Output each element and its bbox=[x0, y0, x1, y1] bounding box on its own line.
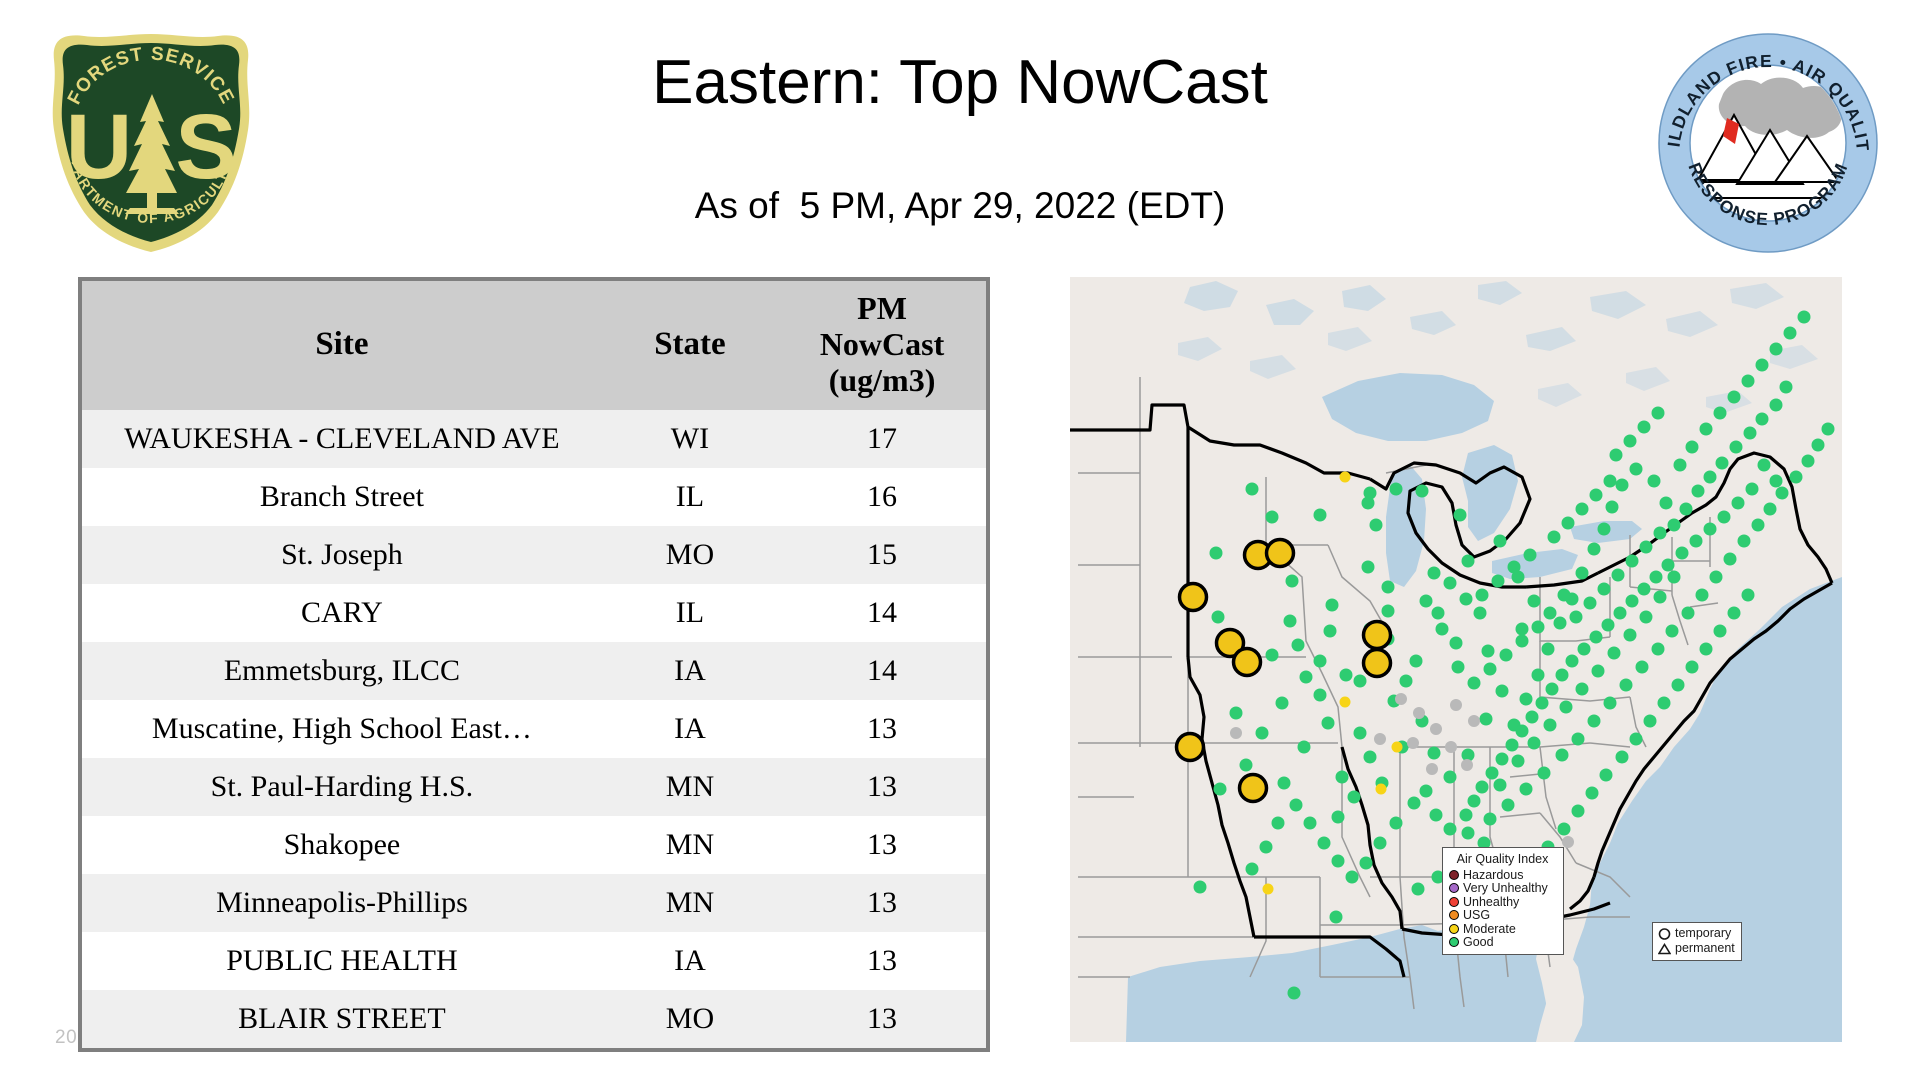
cell-pm-nowcast: 16 bbox=[778, 468, 986, 526]
wfaqrp-logo: WILDLAND FIRE • AIR QUALITY RESPONSE PRO… bbox=[1657, 32, 1879, 254]
column-header-state[interactable]: State bbox=[602, 281, 778, 410]
page-subtitle: As of 5 PM, Apr 29, 2022 (EDT) bbox=[300, 185, 1620, 227]
cell-site: BLAIR STREET bbox=[82, 990, 602, 1048]
site-type-label-temporary: temporary bbox=[1675, 927, 1731, 940]
cell-pm-nowcast: 14 bbox=[778, 584, 986, 642]
column-header-line-units: (ug/m3) bbox=[782, 363, 982, 399]
us-forest-service-logo: FOREST SERVICE DEPARTMENT OF AGRICULTURE… bbox=[46, 26, 256, 256]
cell-state: MO bbox=[602, 990, 778, 1048]
aqi-legend-swatch-icon bbox=[1449, 883, 1459, 893]
table-row[interactable]: BLAIR STREETMO13 bbox=[82, 990, 986, 1048]
table-row[interactable]: Branch StreetIL16 bbox=[82, 468, 986, 526]
table-header-row: Site State PM NowCast (ug/m3) bbox=[82, 281, 986, 410]
shield-letter-u: U bbox=[66, 96, 132, 198]
cell-state: MN bbox=[602, 874, 778, 932]
cell-pm-nowcast: 17 bbox=[778, 410, 986, 468]
table-body: WAUKESHA - CLEVELAND AVEWI17Branch Stree… bbox=[82, 410, 986, 1048]
cell-site: WAUKESHA - CLEVELAND AVE bbox=[82, 410, 602, 468]
cell-site: CARY bbox=[82, 584, 602, 642]
cell-site: PUBLIC HEALTH bbox=[82, 932, 602, 990]
cell-state: IA bbox=[602, 642, 778, 700]
circle-outline-icon bbox=[1658, 927, 1671, 941]
table-row[interactable]: CARYIL14 bbox=[82, 584, 986, 642]
aqi-legend-row: Unhealthy bbox=[1449, 895, 1556, 909]
cell-pm-nowcast: 13 bbox=[778, 700, 986, 758]
cell-state: IA bbox=[602, 700, 778, 758]
cell-state: MN bbox=[602, 758, 778, 816]
aqi-legend-row: Hazardous bbox=[1449, 868, 1556, 882]
column-header-line-pm: PM bbox=[782, 291, 982, 327]
aqi-legend-swatch-icon bbox=[1449, 924, 1459, 934]
aqi-legend-row: Very Unhealthy bbox=[1449, 882, 1556, 896]
cell-pm-nowcast: 15 bbox=[778, 526, 986, 584]
aqi-legend-label: USG bbox=[1463, 909, 1490, 922]
cell-pm-nowcast: 14 bbox=[778, 642, 986, 700]
triangle-outline-icon bbox=[1658, 942, 1671, 956]
table-header: Site State PM NowCast (ug/m3) bbox=[82, 281, 986, 410]
cell-state: MO bbox=[602, 526, 778, 584]
nowcast-table-container: Site State PM NowCast (ug/m3) WAUKESHA -… bbox=[78, 277, 990, 1052]
table-row[interactable]: St. Paul-Harding H.S.MN13 bbox=[82, 758, 986, 816]
cell-site: Branch Street bbox=[82, 468, 602, 526]
table-row[interactable]: ShakopeeMN13 bbox=[82, 816, 986, 874]
nowcast-table: Site State PM NowCast (ug/m3) WAUKESHA -… bbox=[82, 281, 986, 1048]
aqi-legend-row: Good bbox=[1449, 936, 1556, 950]
cell-state: IL bbox=[602, 468, 778, 526]
aqi-legend-rows: HazardousVery UnhealthyUnhealthyUSGModer… bbox=[1449, 868, 1556, 949]
cell-pm-nowcast: 13 bbox=[778, 932, 986, 990]
table-row[interactable]: WAUKESHA - CLEVELAND AVEWI17 bbox=[82, 410, 986, 468]
aqi-legend-swatch-icon bbox=[1449, 897, 1459, 907]
aqi-legend-swatch-icon bbox=[1449, 937, 1459, 947]
aqi-legend-row: Moderate bbox=[1449, 922, 1556, 936]
cell-state: IA bbox=[602, 932, 778, 990]
cell-pm-nowcast: 13 bbox=[778, 874, 986, 932]
site-type-legend: temporary permanent bbox=[1652, 922, 1742, 961]
column-header-site[interactable]: Site bbox=[82, 281, 602, 410]
aqi-legend-label: Very Unhealthy bbox=[1463, 882, 1548, 895]
cell-site: Shakopee bbox=[82, 816, 602, 874]
site-type-row-temporary: temporary bbox=[1658, 926, 1735, 941]
column-header-pm-nowcast[interactable]: PM NowCast (ug/m3) bbox=[778, 281, 986, 410]
aqi-legend-row: USG bbox=[1449, 909, 1556, 923]
slide-canvas: 2022-04-29 21:45:07 UTC FOREST SERVICE D… bbox=[0, 0, 1920, 1080]
cell-site: Minneapolis-Phillips bbox=[82, 874, 602, 932]
aqi-legend-label: Hazardous bbox=[1463, 869, 1523, 882]
table-row[interactable]: St. JosephMO15 bbox=[82, 526, 986, 584]
air-quality-map[interactable]: Air Quality Index HazardousVery Unhealth… bbox=[1070, 277, 1842, 1042]
aqi-legend-label: Good bbox=[1463, 936, 1494, 949]
aqi-legend-swatch-icon bbox=[1449, 910, 1459, 920]
page-title: Eastern: Top NowCast bbox=[300, 50, 1620, 115]
cell-state: MN bbox=[602, 816, 778, 874]
aqi-legend-swatch-icon bbox=[1449, 870, 1459, 880]
shield-letter-s: S bbox=[175, 96, 236, 198]
table-row[interactable]: Minneapolis-PhillipsMN13 bbox=[82, 874, 986, 932]
table-row[interactable]: Muscatine, High School East…IA13 bbox=[82, 700, 986, 758]
aqi-legend-label: Moderate bbox=[1463, 923, 1516, 936]
cell-pm-nowcast: 13 bbox=[778, 758, 986, 816]
cell-state: WI bbox=[602, 410, 778, 468]
column-header-line-nowcast: NowCast bbox=[782, 327, 982, 363]
cell-state: IL bbox=[602, 584, 778, 642]
aqi-legend: Air Quality Index HazardousVery Unhealth… bbox=[1442, 847, 1564, 955]
cell-site: Emmetsburg, ILCC bbox=[82, 642, 602, 700]
cell-site: St. Joseph bbox=[82, 526, 602, 584]
cell-site: Muscatine, High School East… bbox=[82, 700, 602, 758]
aqi-legend-title: Air Quality Index bbox=[1449, 852, 1556, 866]
aqi-legend-label: Unhealthy bbox=[1463, 896, 1519, 909]
cell-pm-nowcast: 13 bbox=[778, 990, 986, 1048]
site-type-label-permanent: permanent bbox=[1675, 942, 1735, 955]
cell-pm-nowcast: 13 bbox=[778, 816, 986, 874]
table-row[interactable]: Emmetsburg, ILCCIA14 bbox=[82, 642, 986, 700]
site-type-row-permanent: permanent bbox=[1658, 941, 1735, 956]
table-row[interactable]: PUBLIC HEALTHIA13 bbox=[82, 932, 986, 990]
cell-site: St. Paul-Harding H.S. bbox=[82, 758, 602, 816]
